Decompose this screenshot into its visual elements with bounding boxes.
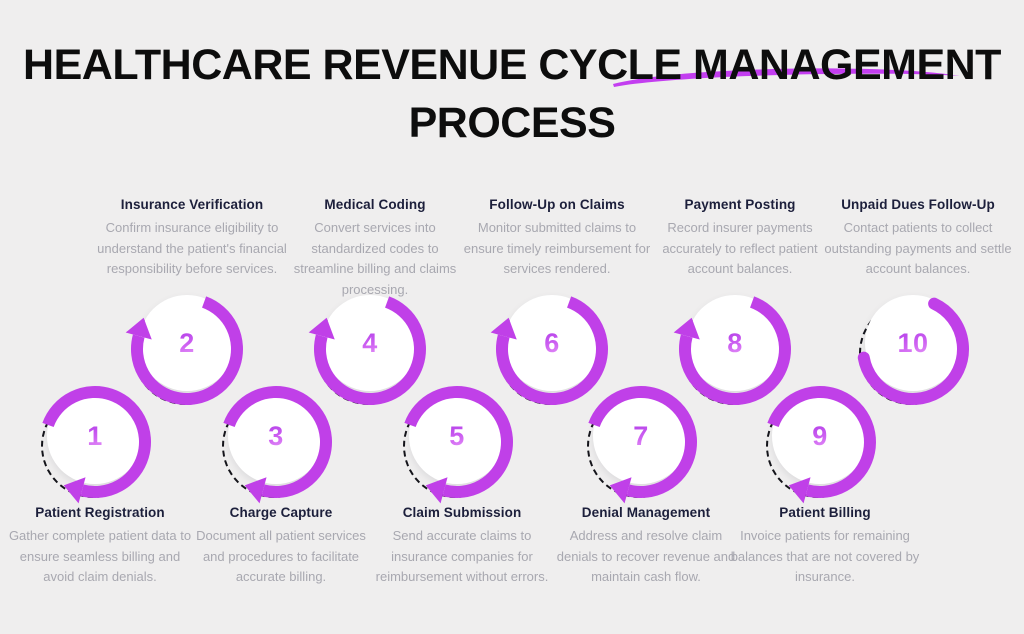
step-description: Address and resolve claim denials to rec…: [551, 526, 741, 588]
process-step-text-10: Unpaid Dues Follow-UpContact patients to…: [823, 196, 1013, 280]
step-description: Monitor submitted claims to ensure timel…: [462, 218, 652, 280]
step-heading: Insurance Verification: [97, 196, 287, 214]
step-description: Confirm insurance eligibility to underst…: [97, 218, 287, 280]
process-step-text-4: Medical CodingConvert services into stan…: [280, 196, 470, 300]
step-heading: Patient Billing: [730, 504, 920, 522]
step-arc-arrow-icon: [859, 291, 977, 409]
step-heading: Charge Capture: [186, 504, 376, 522]
step-heading: Claim Submission: [367, 504, 557, 522]
step-description: Gather complete patient data to ensure s…: [5, 526, 195, 588]
infographic-canvas: HEALTHCARE REVENUE CYCLE MANAGEMENT PROC…: [0, 0, 1024, 634]
process-step-text-2: Insurance VerificationConfirm insurance …: [97, 196, 287, 280]
process-step-node-10[interactable]: 10: [859, 291, 977, 409]
step-description: Send accurate claims to insurance compan…: [367, 526, 557, 588]
title-line-2: PROCESS: [0, 94, 1024, 152]
step-heading: Medical Coding: [280, 196, 470, 214]
step-heading: Follow-Up on Claims: [462, 196, 652, 214]
process-step-text-7: Denial ManagementAddress and resolve cla…: [551, 504, 741, 588]
step-heading: Payment Posting: [645, 196, 835, 214]
step-description: Record insurer payments accurately to re…: [645, 218, 835, 280]
step-description: Invoice patients for remaining balances …: [730, 526, 920, 588]
step-heading: Patient Registration: [5, 504, 195, 522]
step-heading: Denial Management: [551, 504, 741, 522]
page-title: HEALTHCARE REVENUE CYCLE MANAGEMENT PROC…: [0, 36, 1024, 152]
step-heading: Unpaid Dues Follow-Up: [823, 196, 1013, 214]
process-step-text-5: Claim SubmissionSend accurate claims to …: [367, 504, 557, 588]
process-step-text-1: Patient RegistrationGather complete pati…: [5, 504, 195, 588]
process-step-text-6: Follow-Up on ClaimsMonitor submitted cla…: [462, 196, 652, 280]
title-line-1: HEALTHCARE REVENUE CYCLE MANAGEMENT: [0, 36, 1024, 94]
process-step-text-8: Payment PostingRecord insurer payments a…: [645, 196, 835, 280]
step-description: Convert services into standardized codes…: [280, 218, 470, 300]
step-description: Contact patients to collect outstanding …: [823, 218, 1013, 280]
process-step-text-9: Patient BillingInvoice patients for rema…: [730, 504, 920, 588]
step-description: Document all patient services and proced…: [186, 526, 376, 588]
process-step-text-3: Charge CaptureDocument all patient servi…: [186, 504, 376, 588]
